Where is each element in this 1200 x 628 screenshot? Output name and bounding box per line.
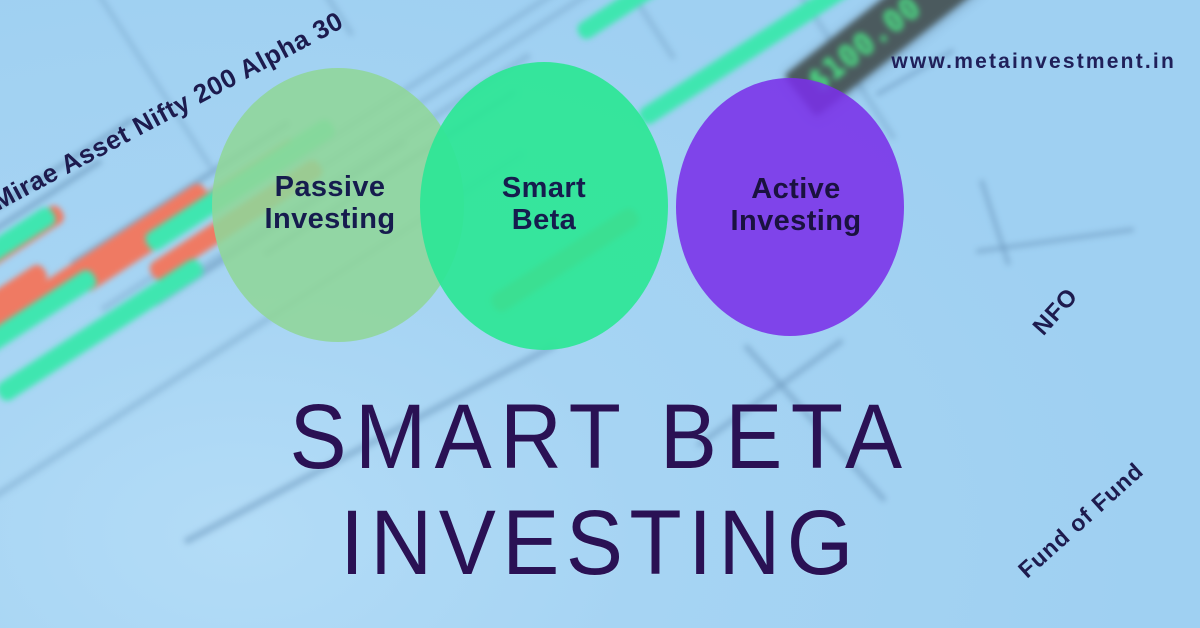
poster-headline: SMART BETA INVESTING — [42, 392, 1158, 588]
headline-line-1: SMART BETA — [290, 386, 911, 488]
venn-label-active-line2: Investing — [731, 205, 862, 237]
headline-line-2: INVESTING — [42, 498, 1158, 588]
venn-label-smart-line1: Smart — [502, 172, 586, 204]
venn-label-passive-line2: Investing — [265, 203, 396, 235]
venn-label-passive-investing: Passive Investing — [265, 171, 396, 236]
venn-label-smart-line2: Beta — [512, 204, 576, 236]
venn-label-active-investing: Active Investing — [731, 173, 862, 238]
venn-label-active-line1: Active — [751, 173, 840, 205]
venn-label-passive-line1: Passive — [275, 171, 386, 203]
poster-canvas: $100.00 2 Mirae Asset Nifty 200 Alpha 30… — [0, 0, 1200, 628]
venn-circle-smart-beta: Smart Beta — [420, 62, 668, 350]
venn-label-smart-beta: Smart Beta — [502, 172, 586, 237]
venn-circle-active-investing: Active Investing — [676, 78, 904, 336]
